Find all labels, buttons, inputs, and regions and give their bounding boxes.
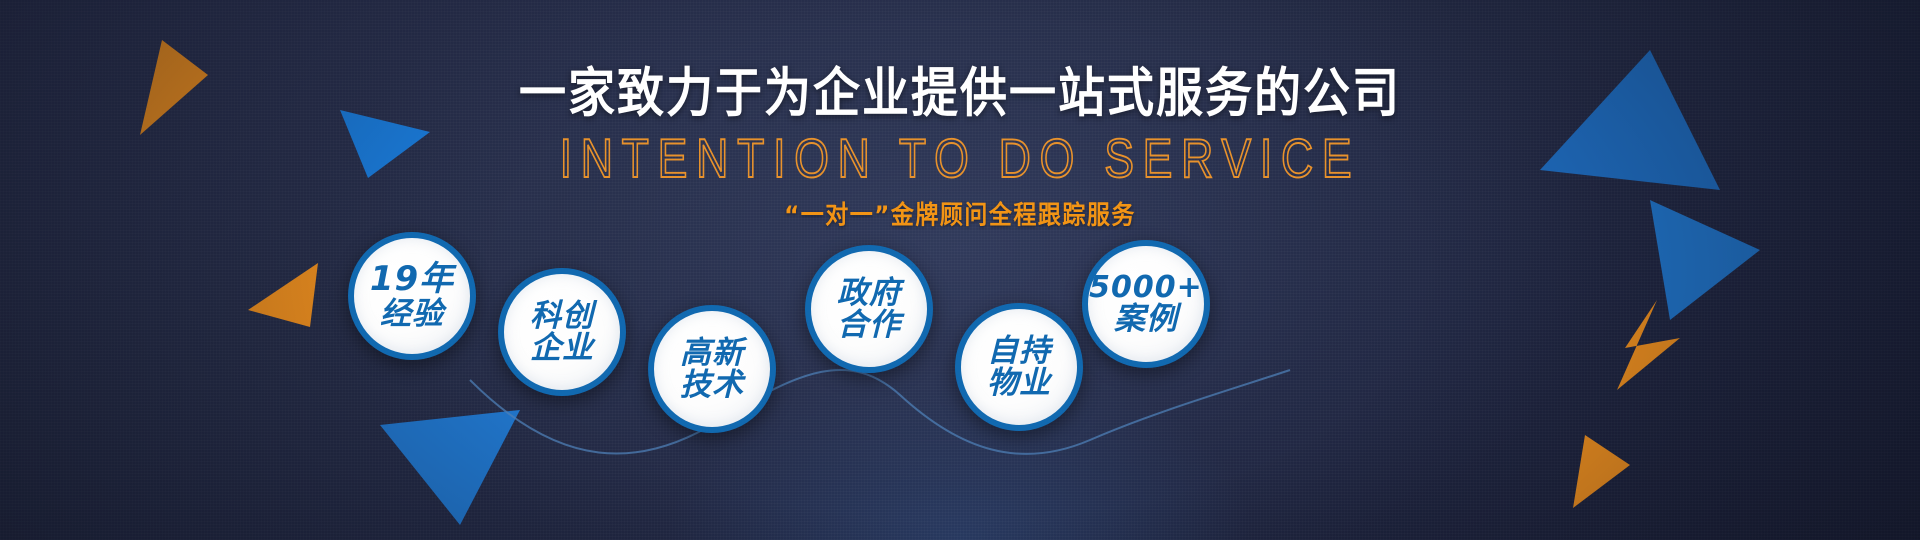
badge-experience[interactable]: 19年 经验 — [348, 232, 476, 360]
badge-high-tech[interactable]: 高新 技术 — [648, 305, 776, 433]
badge-line-2: 案例 — [1114, 303, 1178, 335]
english-subtitle: INTENTION TO DO SERVICE — [29, 131, 1891, 185]
badge-line-2: 企业 — [530, 332, 594, 364]
badge-line-2: 合作 — [837, 309, 901, 341]
badge-property[interactable]: 自持 物业 — [955, 303, 1083, 431]
page-title: 一家致力于为企业提供一站式服务的公司 — [0, 67, 1920, 120]
badge-line-2: 物业 — [987, 367, 1051, 399]
badge-tech-startup[interactable]: 科创 企业 — [498, 268, 626, 396]
tagline: “一对一”金牌顾问全程跟踪服务 — [0, 204, 1920, 229]
badge-line-1: 5000+ — [1089, 272, 1203, 303]
badge-line-2: 技术 — [680, 369, 744, 401]
hero-banner: 一家致力于为企业提供一站式服务的公司 INTENTION TO DO SERVI… — [0, 0, 1920, 540]
badge-cases[interactable]: 5000+ 案例 — [1082, 240, 1210, 368]
badge-line-1: 高新 — [680, 337, 744, 369]
badge-line-2: 经验 — [380, 298, 444, 330]
badge-line-1: 科创 — [530, 300, 594, 332]
headline-block: 一家致力于为企业提供一站式服务的公司 INTENTION TO DO SERVI… — [0, 70, 1920, 228]
badge-line-1: 19年 — [370, 262, 454, 297]
badge-line-1: 政府 — [837, 277, 901, 309]
badge-government[interactable]: 政府 合作 — [805, 245, 933, 373]
badge-line-1: 自持 — [987, 335, 1051, 367]
